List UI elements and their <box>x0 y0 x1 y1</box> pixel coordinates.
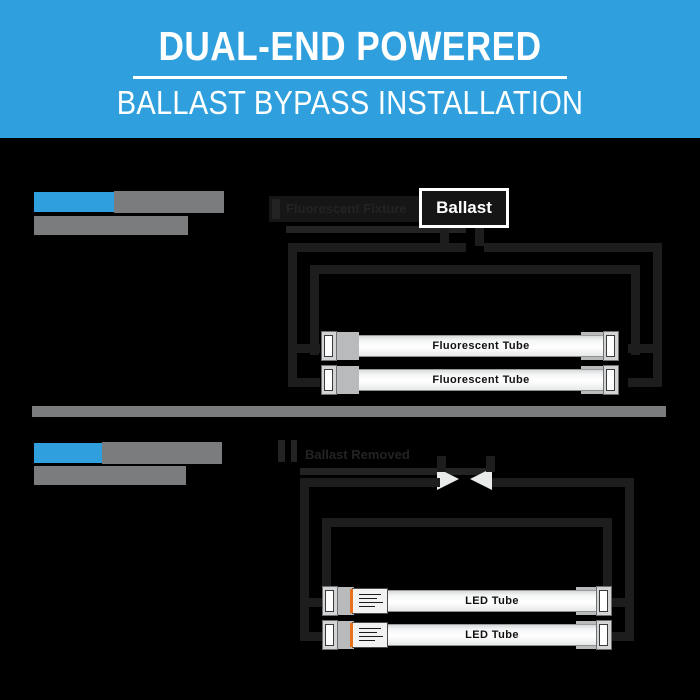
after-wire-left-drop <box>300 598 309 641</box>
header-banner: DUAL-END POWERED BALLAST BYPASS INSTALLA… <box>0 0 700 138</box>
led-tube-2-pin-left <box>325 624 334 646</box>
before-wire-left-down <box>288 243 297 353</box>
title-divider-rule <box>133 76 567 79</box>
before-wire-right-inner <box>631 265 640 355</box>
after-section-label: AFTER <box>34 443 224 485</box>
after-redacted-line-1 <box>102 442 222 464</box>
led-tube-2-driver <box>352 622 388 648</box>
after-wire-left-down <box>300 478 309 600</box>
tube-1-label: Fluorescent Tube <box>359 336 603 356</box>
tube-1-pin-right <box>606 335 615 357</box>
led-tube-1: LED Tube <box>318 586 618 616</box>
tube-2-body: Fluorescent Tube <box>359 369 603 391</box>
after-wire-right-drop <box>625 598 634 641</box>
after-wire-cut-stub-right <box>486 456 495 472</box>
led-tube-2-label: LED Tube <box>388 625 596 645</box>
after-redacted-line-2 <box>34 466 186 485</box>
before-fixture-bracket-left <box>272 199 280 219</box>
led-tube-2-driver-wire <box>350 623 353 647</box>
page-subtitle: BALLAST BYPASS INSTALLATION <box>42 84 658 122</box>
section-divider <box>32 406 666 417</box>
after-wire-top-right <box>492 478 634 487</box>
before-wire-right-drop <box>653 344 662 387</box>
before-wire-ballast-drop-2 <box>475 228 484 246</box>
after-wire-right-down <box>625 478 634 600</box>
after-wire-cut-stub-left <box>437 456 446 472</box>
led-tube-1-driver <box>352 588 388 614</box>
after-fixture-bracket-left-2 <box>291 440 297 462</box>
before-wire-left-drop <box>288 344 297 387</box>
before-keyword: BEFORE <box>34 192 114 212</box>
page-title: DUAL-END POWERED <box>49 24 651 68</box>
fluorescent-tube-2: Fluorescent Tube <box>315 365 625 395</box>
infographic-canvas: DUAL-END POWERED BALLAST BYPASS INSTALLA… <box>0 0 700 700</box>
led-tube-1-label: LED Tube <box>388 591 596 611</box>
ballast-label: Ballast <box>422 191 506 225</box>
led-tube-1-pin-right <box>599 590 608 612</box>
tube-2-pin-left <box>324 369 333 391</box>
before-wire-ballast-drop <box>440 228 449 246</box>
led-tube-1-driver-wire <box>350 589 353 613</box>
led-tube-2: LED Tube <box>318 620 618 650</box>
before-wire-bridge <box>310 265 640 274</box>
before-fixture-label: Fluorescent Fixture <box>286 201 407 216</box>
tube-2-socket-left <box>337 366 359 394</box>
before-wire-top-right <box>484 243 662 252</box>
fluorescent-tube-1: Fluorescent Tube <box>315 331 625 361</box>
led-tube-2-pin-right <box>599 624 608 646</box>
before-redacted-line-1 <box>114 191 224 213</box>
after-wire-top-left <box>300 478 440 487</box>
before-wire-right-down <box>653 243 662 353</box>
led-tube-2-body: LED Tube <box>388 624 596 646</box>
tube-2-pin-right <box>606 369 615 391</box>
tube-1-socket-left <box>337 332 359 360</box>
tube-1-pin-left <box>324 335 333 357</box>
before-section-label: BEFORE <box>34 192 224 236</box>
before-redacted-line-2 <box>34 216 188 235</box>
after-fixture-label: Ballast Removed <box>305 447 410 462</box>
tube-1-body: Fluorescent Tube <box>359 335 603 357</box>
after-wire-bridge <box>322 518 612 527</box>
led-tube-1-body: LED Tube <box>388 590 596 612</box>
after-keyword: AFTER <box>34 443 102 463</box>
led-tube-1-pin-left <box>325 590 334 612</box>
after-fixture-bracket-left <box>278 440 285 462</box>
after-fixture-base <box>300 468 490 475</box>
ballast-box: Ballast <box>419 188 509 228</box>
tube-2-label: Fluorescent Tube <box>359 370 603 390</box>
